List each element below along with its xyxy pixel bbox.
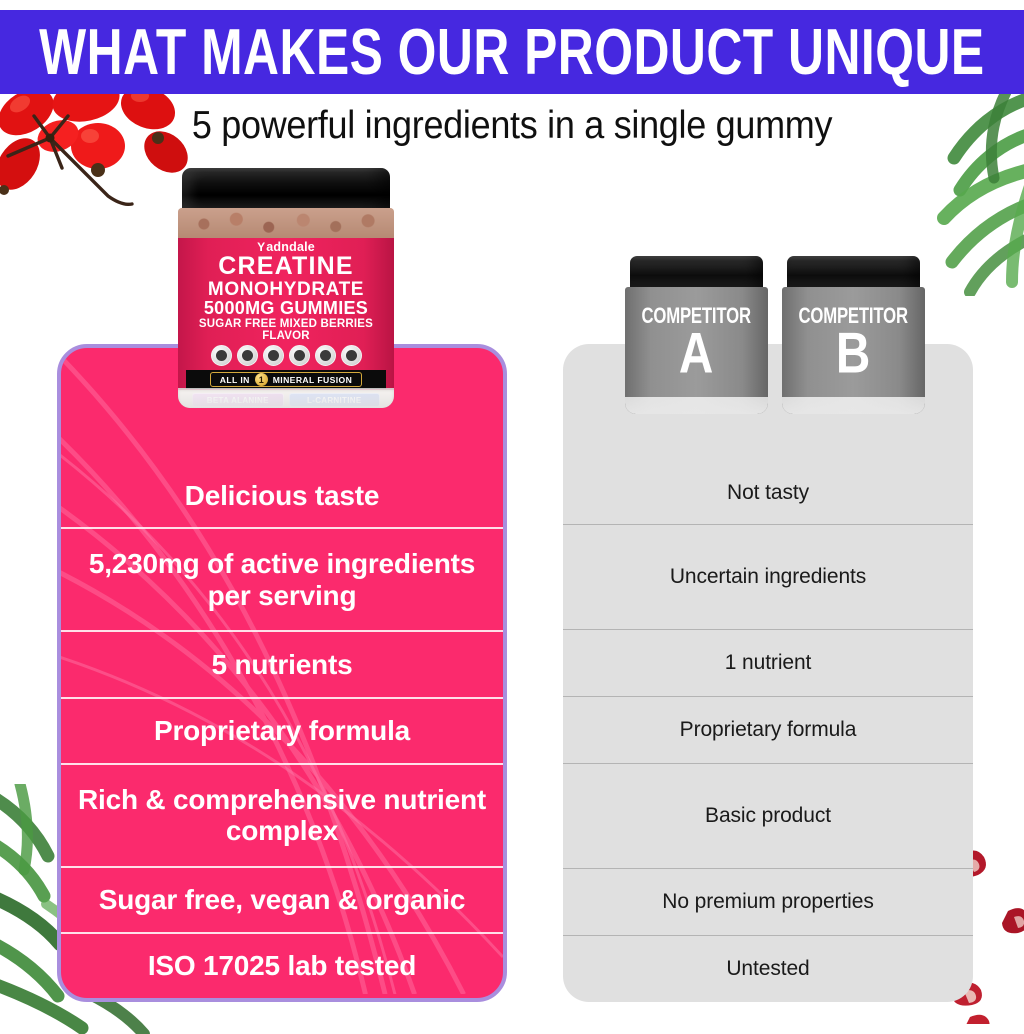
competitor-panel: Not tastyUncertain ingredients1 nutrient… xyxy=(563,344,973,1002)
competitor-jar: COMPETITORB xyxy=(782,256,925,414)
competitor-jar-lid xyxy=(630,256,763,291)
product-name-line2: MONOHYDRATE xyxy=(178,280,394,299)
feature-row-label: Basic product xyxy=(705,803,831,828)
feature-row: No premium properties xyxy=(563,868,973,935)
certification-badge-icon xyxy=(211,345,232,366)
feature-row-label: Proprietary formula xyxy=(680,717,857,742)
feature-row-label: Uncertain ingredients xyxy=(670,564,866,589)
mineral-fusion-banner: ALL IN 1 MINERAL FUSION xyxy=(186,370,386,389)
feature-row-label: Not tasty xyxy=(727,480,809,505)
competitor-letter: B xyxy=(836,327,870,381)
feature-row: Untested xyxy=(563,935,973,1002)
feature-row: Uncertain ingredients xyxy=(563,524,973,629)
feature-row-label: 5 nutrients xyxy=(212,649,353,680)
subtitle: 5 powerful ingredients in a single gummy xyxy=(0,102,1024,147)
feature-row: Rich & comprehensive nutrient complex xyxy=(61,763,503,866)
competitor-jar: COMPETITORA xyxy=(625,256,768,414)
feature-row: Not tasty xyxy=(563,461,973,524)
competitor-jar-lid xyxy=(787,256,920,291)
feature-row-label: Rich & comprehensive nutrient complex xyxy=(77,784,487,847)
feature-row: 5,230mg of active ingredients per servin… xyxy=(61,527,503,630)
fusion-suffix: MINERAL FUSION xyxy=(273,375,352,385)
competitor-jars: COMPETITORACOMPETITORB xyxy=(625,256,925,414)
feature-row-label: Untested xyxy=(726,956,809,981)
product-name-line3: 5000MG GUMMIES xyxy=(178,299,394,317)
competitor-jar-body: COMPETITORB xyxy=(782,287,925,414)
competitor-feature-rows: Not tastyUncertain ingredients1 nutrient… xyxy=(563,344,973,1002)
product-jar: Yadndale CREATINE MONOHYDRATE 5000MG GUM… xyxy=(178,168,394,410)
certification-badge-icon xyxy=(341,345,362,366)
feature-row: 1 nutrient xyxy=(563,629,973,696)
jar-label: Yadndale CREATINE MONOHYDRATE 5000MG GUM… xyxy=(178,238,394,390)
feature-row: 5 nutrients xyxy=(61,630,503,696)
feature-row: Basic product xyxy=(563,763,973,868)
certification-badges xyxy=(178,345,394,366)
fusion-number-badge: 1 xyxy=(255,373,268,386)
feature-row-label: Sugar free, vegan & organic xyxy=(99,884,466,915)
competitor-jar-body: COMPETITORA xyxy=(625,287,768,414)
product-name-line1: CREATINE xyxy=(178,254,394,280)
jar-base-highlight xyxy=(178,388,394,408)
feature-row-label: Delicious taste xyxy=(185,480,380,511)
product-claims: SUGAR FREE MIXED BERRIES FLAVOR xyxy=(178,318,394,342)
page-title: WHAT MAKES OUR PRODUCT UNIQUE xyxy=(39,20,984,85)
fusion-prefix: ALL IN xyxy=(220,375,250,385)
competitor-letter: A xyxy=(679,327,713,381)
feature-row-label: No premium properties xyxy=(662,889,873,914)
feature-row-label: 1 nutrient xyxy=(725,650,812,675)
jar-body: Yadndale CREATINE MONOHYDRATE 5000MG GUM… xyxy=(178,208,394,408)
product-name: CREATINE MONOHYDRATE 5000MG GUMMIES xyxy=(178,254,394,317)
feature-row: Proprietary formula xyxy=(61,697,503,763)
feature-row: Delicious taste xyxy=(61,465,503,527)
our-product-panel: Delicious taste5,230mg of active ingredi… xyxy=(57,344,507,1002)
feature-row-label: 5,230mg of active ingredients per servin… xyxy=(77,548,487,611)
jar-lid xyxy=(182,168,390,213)
gummies-visible xyxy=(178,208,394,240)
our-feature-rows: Delicious taste5,230mg of active ingredi… xyxy=(61,348,503,998)
feature-row: Proprietary formula xyxy=(563,696,973,763)
feature-row-label: Proprietary formula xyxy=(154,715,410,746)
certification-badge-icon xyxy=(263,345,284,366)
feature-row-label: ISO 17025 lab tested xyxy=(148,950,416,981)
certification-badge-icon xyxy=(237,345,258,366)
feature-row: Sugar free, vegan & organic xyxy=(61,866,503,932)
header-banner: WHAT MAKES OUR PRODUCT UNIQUE xyxy=(0,10,1024,94)
certification-badge-icon xyxy=(315,345,336,366)
feature-row: ISO 17025 lab tested xyxy=(61,932,503,998)
certification-badge-icon xyxy=(289,345,310,366)
